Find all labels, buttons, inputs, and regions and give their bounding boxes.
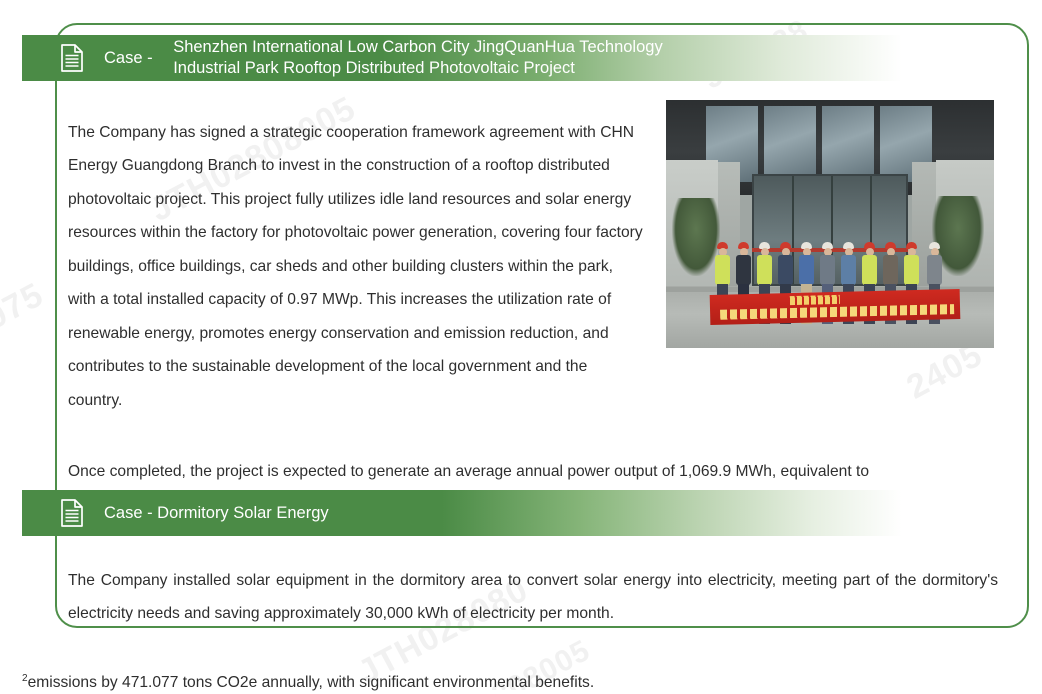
case-1-intro-row: The Company has signed a strategic coope… [68,100,998,433]
case-1-label: Case - [104,49,157,68]
case-1-title: Shenzhen International Low Carbon City J… [173,37,972,79]
case-2-header-bar: Case - Dormitory Solar Energy [22,490,972,536]
document-icon [60,44,84,72]
case-1-photo [666,100,994,348]
case-2-paragraph-1: The Company installed solar equipment in… [68,564,998,631]
document-icon [60,499,84,527]
watermark-text: 4075 [0,276,50,348]
case-1-paragraph-1: The Company has signed a strategic coope… [68,116,644,418]
case-1-header-bar: Case - Shenzhen International Low Carbon… [22,35,972,81]
footnote-text: emissions by 471.077 tons CO2e annually,… [28,674,595,691]
photo-red-banner [710,289,961,325]
case-2-label: Case - Dormitory Solar Energy [104,504,329,523]
case-1-paragraph-2-main: Once completed, the project is expected … [68,463,869,480]
case-1-body: The Company has signed a strategic coope… [68,100,998,537]
